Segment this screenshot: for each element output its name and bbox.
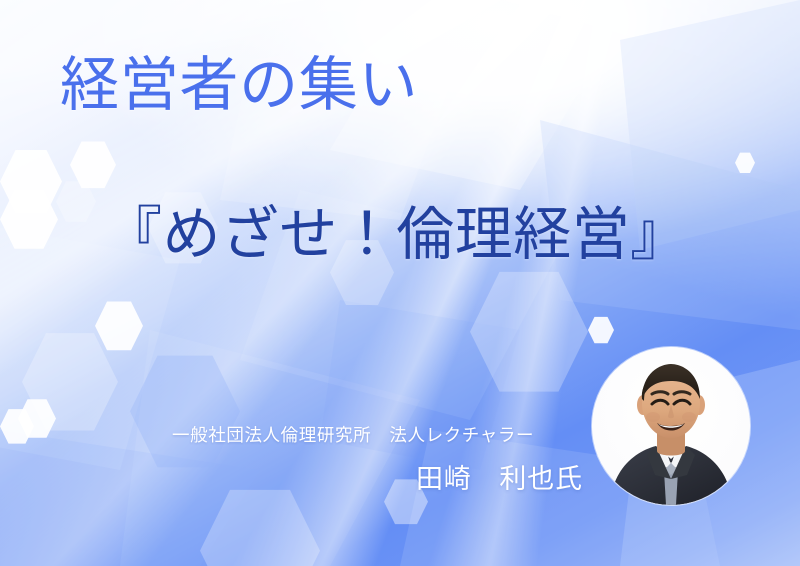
slide-title-secondary: 『めざせ！倫理経営』 (104, 206, 689, 264)
speaker-affiliation: 一般社団法人倫理研究所 法人レクチャラー (172, 422, 534, 447)
slide-title-primary: 経営者の集い (60, 56, 418, 115)
speaker-portrait (592, 347, 750, 505)
speaker-name: 田崎 利也氏 (416, 457, 583, 496)
presentation-slide: 経営者の集い 『めざせ！倫理経営』 一般社団法人倫理研究所 法人レクチャラー 田… (0, 0, 800, 566)
